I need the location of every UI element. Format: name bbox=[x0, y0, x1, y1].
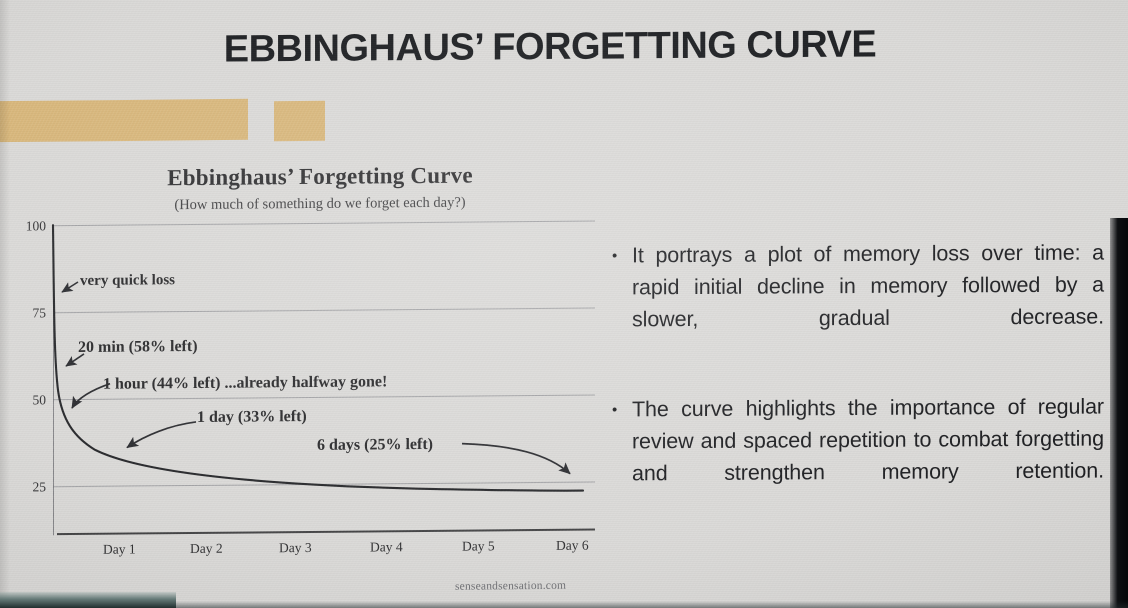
monitor-bezel-bottom-left bbox=[0, 592, 176, 608]
annotation-6-days: 6 days (25% left) bbox=[317, 436, 433, 455]
arrow-very-quick-loss bbox=[62, 282, 78, 292]
bullet-dot-icon: • bbox=[612, 393, 632, 417]
slide-title: EBBINGHAUS’ FORGETTING CURVE bbox=[0, 22, 1100, 74]
slide-screen: EBBINGHAUS’ FORGETTING CURVE Ebbinghaus’… bbox=[0, 0, 1128, 608]
monitor-bezel-right bbox=[1110, 218, 1128, 608]
arrow-6-days bbox=[462, 443, 570, 475]
annotation-very-quick-loss: very quick loss bbox=[80, 272, 175, 290]
bullet-list: • It portrays a plot of memory loss over… bbox=[612, 236, 1104, 547]
bullet-text: The curve highlights the importance of r… bbox=[632, 390, 1104, 521]
list-item: • It portrays a plot of memory loss over… bbox=[612, 236, 1104, 367]
annotation-1-day: 1 day (33% left) bbox=[197, 408, 307, 427]
list-item: • The curve highlights the importance of… bbox=[612, 390, 1104, 521]
bullet-text: It portrays a plot of memory loss over t… bbox=[632, 236, 1104, 367]
annotation-20-min: 20 min (58% left) bbox=[78, 338, 198, 357]
left-edge-shadow bbox=[0, 0, 10, 608]
annotation-1-hour: 1 hour (44% left) ...already halfway gon… bbox=[103, 373, 387, 393]
forgetting-curve-chart: Ebbinghaus’ Forgetting Curve (How much o… bbox=[0, 147, 612, 602]
arrow-1-day bbox=[127, 422, 196, 448]
bullet-dot-icon: • bbox=[612, 239, 632, 263]
chart-watermark: senseandsensation.com bbox=[455, 580, 566, 593]
accent-bar-square bbox=[274, 101, 325, 141]
accent-bar-long bbox=[0, 99, 248, 142]
